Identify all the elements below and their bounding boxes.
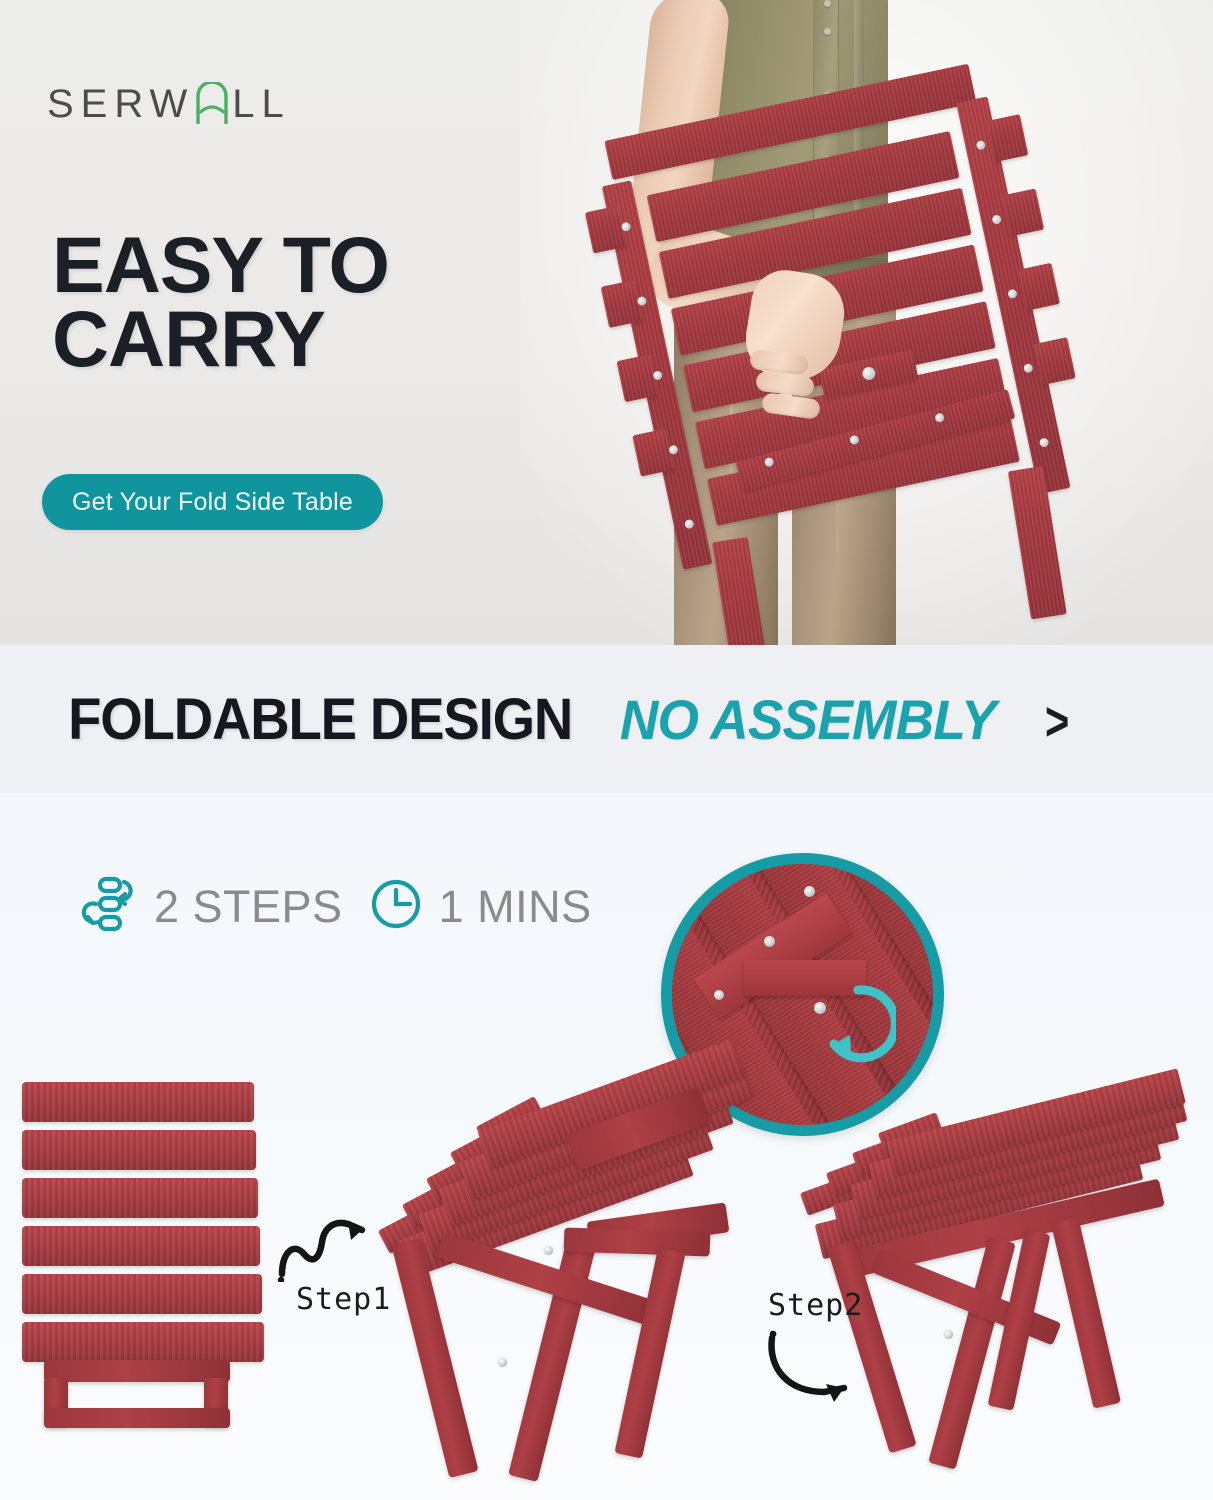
table-leg [1051,1217,1121,1408]
banner-text-no-assembly: NO ASSEMBLY [620,687,996,752]
hero-panel: SERW LL EASY TO CARRY Get Your Fold Side… [0,0,1213,645]
screw [764,936,775,947]
banner-row: FOLDABLE DESIGN NO ASSEMBLY > [0,686,1213,753]
meta-minutes: 1 MINS [367,875,592,938]
product-infographic-page: SERW LL EASY TO CARRY Get Your Fold Side… [0,0,1213,1500]
workflow-steps-icon [78,873,140,940]
table-leg [614,1247,685,1458]
headline-line-2: CARRY [52,302,612,376]
table-slat [22,1226,260,1266]
screw [714,990,724,1000]
chevron-right-icon[interactable]: > [1045,694,1069,749]
step2-curved-arrow-icon [762,1330,872,1410]
table-slat [22,1274,262,1314]
step2-label: Step2 [768,1288,863,1323]
logo-text-part2: LL [232,84,291,124]
meta-steps-label: 2 STEPS [154,884,343,929]
figure-table-unfolding [378,1062,734,1482]
table-edge-tab [1034,337,1076,385]
clock-icon [367,875,425,938]
folded-leg-rail-bottom [44,1408,230,1428]
folded-leg-rail-top [44,1360,230,1382]
logo-text-part1: SERW [47,84,194,124]
cta-label: Get Your Fold Side Table [72,488,353,517]
screw [804,886,815,897]
logo-arch-a-icon [195,82,229,124]
shirt-button [824,28,831,35]
meta-minutes-label: 1 MINS [439,884,592,929]
brand-logo[interactable]: SERW LL [47,74,291,124]
screw [498,1358,507,1367]
banner-text-foldable-design: FOLDABLE DESIGN [68,686,572,753]
figure-table-folded-flat [22,1082,274,1422]
assembly-meta-row: 2 STEPS 1 MINS [78,873,592,940]
table-edge-tab [1018,263,1060,311]
cta-get-fold-side-table-button[interactable]: Get Your Fold Side Table [42,474,383,530]
table-edge-tab [1002,188,1044,236]
shirt-button [824,0,831,7]
screw [944,1330,953,1339]
table-slat [22,1178,258,1218]
table-edge-tab [986,114,1028,162]
table-slat [22,1082,254,1122]
table-slat [22,1130,256,1170]
table-leg [391,1238,478,1478]
foldable-design-banner: FOLDABLE DESIGN NO ASSEMBLY > [0,645,1213,793]
rotate-lock-arrow-icon [800,972,896,1068]
step1-squiggle-arrow-icon [276,1212,386,1282]
page-title: EASY TO CARRY [52,228,612,377]
table-slat [22,1322,264,1362]
screw [544,1246,553,1255]
table-leg-top-brace [564,1227,711,1256]
meta-steps: 2 STEPS [78,873,343,940]
person-carrying-folded-table-image [600,0,1213,645]
